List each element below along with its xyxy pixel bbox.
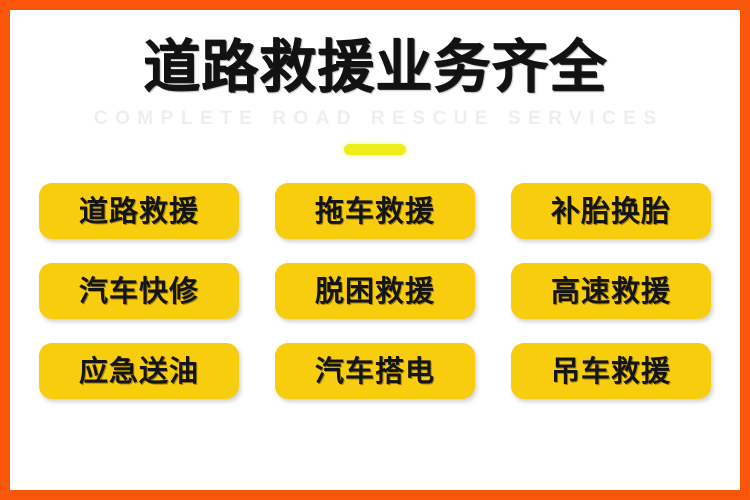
service-label: 拖车救援 <box>315 196 435 227</box>
service-chip[interactable]: 拖车救援 <box>275 183 475 239</box>
service-chip[interactable]: 脱困救援 <box>275 263 475 319</box>
service-chip[interactable]: 汽车搭电 <box>275 343 475 399</box>
poster-content: 道路救援业务齐全 COMPLETE ROAD RESCUE SERVICES 道… <box>10 10 740 490</box>
service-chip[interactable]: 吊车救援 <box>511 343 711 399</box>
service-chip[interactable]: 应急送油 <box>39 343 239 399</box>
service-chip[interactable]: 道路救援 <box>39 183 239 239</box>
poster-frame: 道路救援业务齐全 COMPLETE ROAD RESCUE SERVICES 道… <box>0 0 750 500</box>
service-label: 脱困救援 <box>315 276 435 307</box>
service-label: 高速救援 <box>551 276 671 307</box>
service-chip[interactable]: 补胎换胎 <box>511 183 711 239</box>
poster-header: 道路救援业务齐全 COMPLETE ROAD RESCUE SERVICES <box>10 10 740 155</box>
service-label: 汽车搭电 <box>315 356 435 387</box>
service-label: 汽车快修 <box>79 276 199 307</box>
title-underline-accent <box>344 144 406 155</box>
service-label: 道路救援 <box>79 196 199 227</box>
service-chip[interactable]: 汽车快修 <box>39 263 239 319</box>
service-label: 补胎换胎 <box>551 196 671 227</box>
service-label: 吊车救援 <box>551 356 671 387</box>
service-chip[interactable]: 高速救援 <box>511 263 711 319</box>
page-title: 道路救援业务齐全 <box>10 36 740 98</box>
service-label: 应急送油 <box>79 356 199 387</box>
services-grid: 道路救援 拖车救援 补胎换胎 汽车快修 脱困救援 高速救援 应急送油 汽车搭电 <box>39 183 711 399</box>
page-subtitle: COMPLETE ROAD RESCUE SERVICES <box>10 108 740 130</box>
